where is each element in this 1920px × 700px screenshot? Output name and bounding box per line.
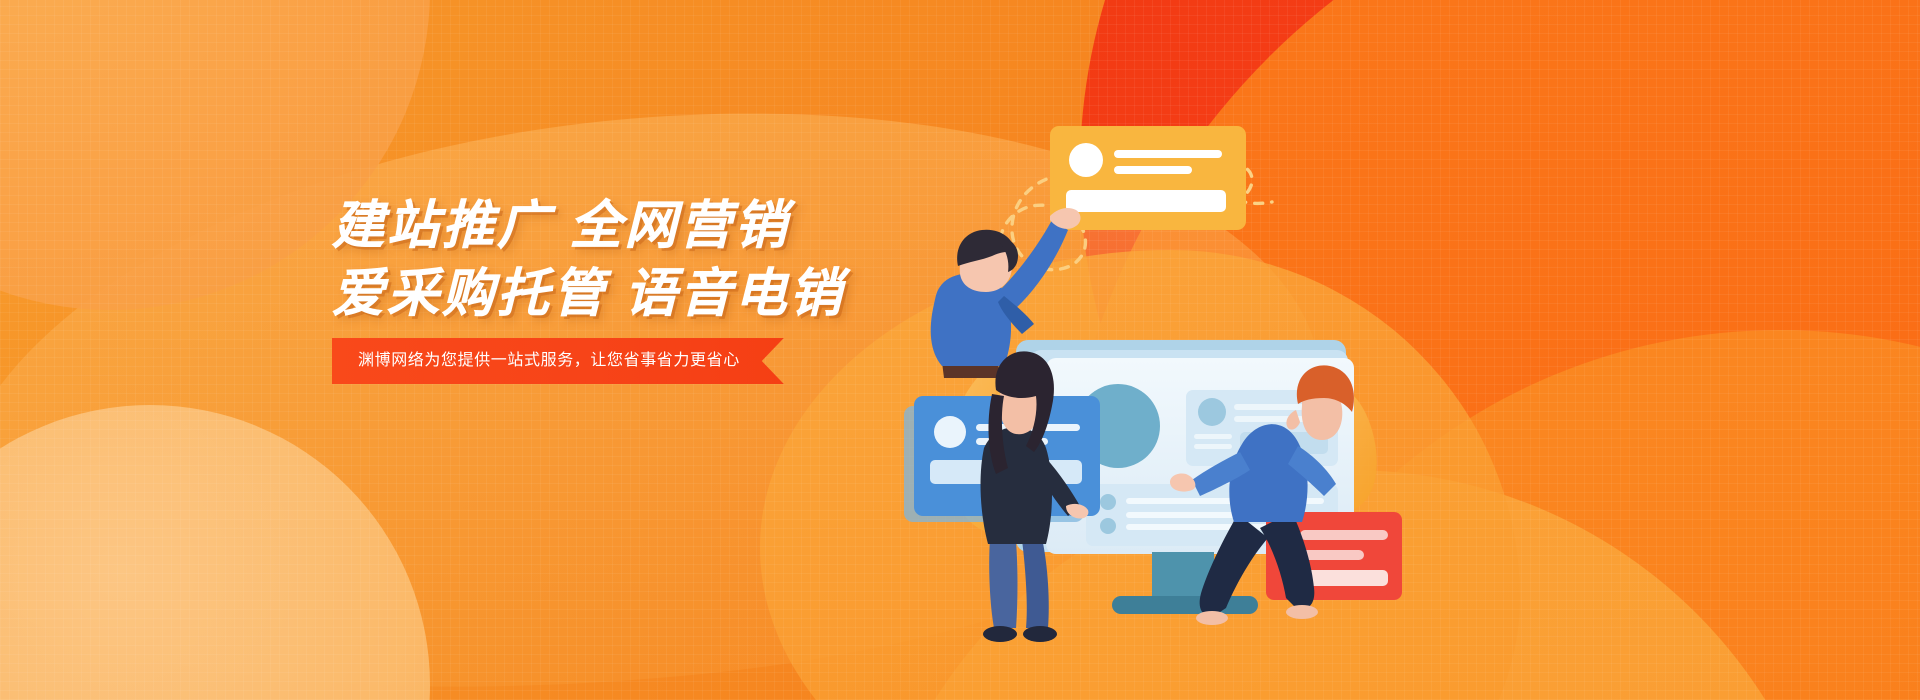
ribbon-container: 渊博网络为您提供一站式服务，让您省事省力更省心 (332, 338, 784, 384)
headline-line-1: 建站推广 全网营销 (332, 196, 1092, 256)
team-collaboration-illustration (900, 60, 1460, 660)
promo-banner: 建站推广 全网营销 爱采购托管 语音电销 渊博网络为您提供一站式服务，让您省事省… (0, 0, 1920, 700)
headline-line-2: 爱采购托管 语音电销 (332, 264, 1092, 324)
tagline-ribbon: 渊博网络为您提供一站式服务，让您省事省力更省心 (332, 338, 784, 384)
banner-copy: 建站推广 全网营销 爱采购托管 语音电销 (332, 196, 1092, 324)
